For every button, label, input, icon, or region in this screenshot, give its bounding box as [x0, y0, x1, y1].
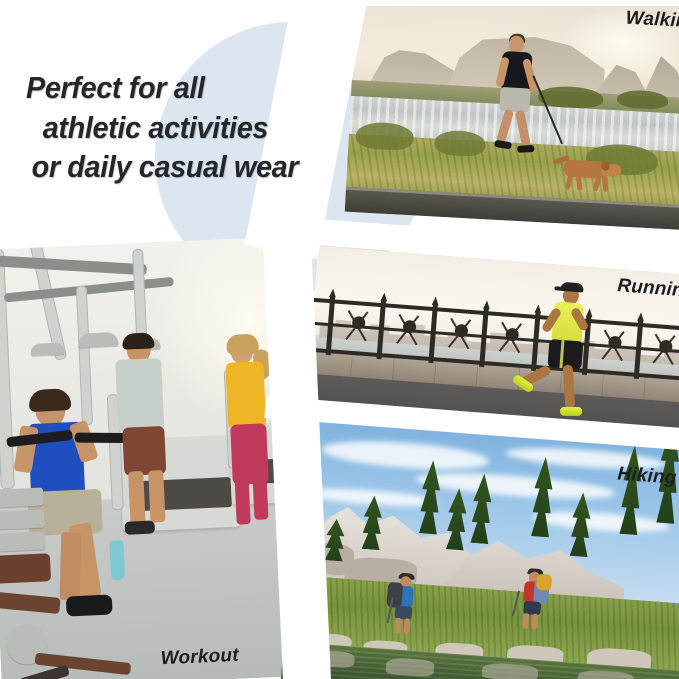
caption-walking: Walking — [625, 8, 679, 34]
panel-walking: Walking — [345, 0, 679, 231]
dog-figure — [548, 154, 628, 194]
headline-line-1: Perfect for all — [26, 68, 353, 108]
walking-photo: Walking — [345, 0, 679, 231]
hiking-photo: Hiking — [279, 418, 679, 679]
hiker-figure — [381, 570, 429, 633]
panel-hiking: Hiking — [279, 418, 679, 679]
headline-line-3: or daily casual wear — [26, 147, 353, 187]
headline-line-2: athletic activities — [26, 108, 353, 148]
caption-workout: Workout — [160, 645, 239, 671]
caption-hiking: Hiking — [617, 463, 678, 489]
page-title: Perfect for all athletic activities or d… — [26, 68, 353, 187]
poster-canvas: Workout — [0, 0, 679, 679]
hiker-figure — [509, 566, 557, 629]
